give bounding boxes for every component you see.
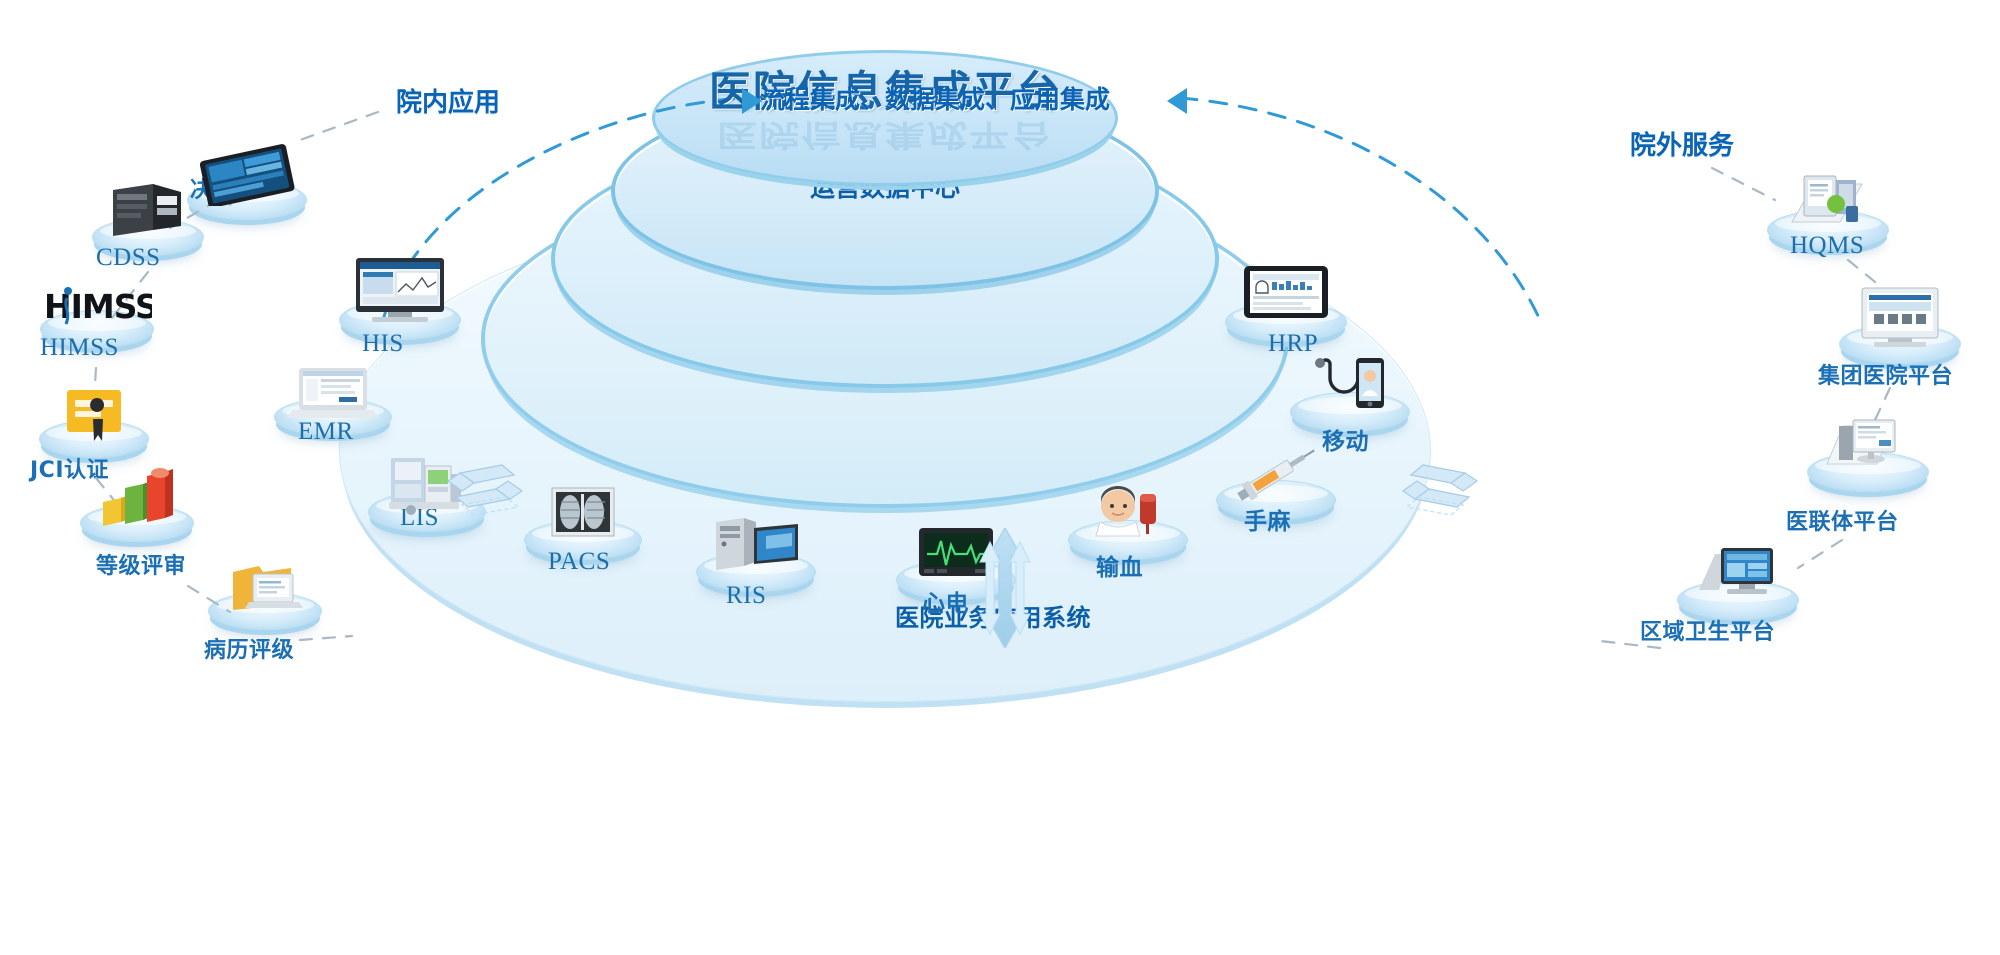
node-ecg-label: 心电: [922, 584, 969, 618]
node-hrp[interactable]: [1208, 250, 1364, 342]
tablet-form-icon: [1234, 262, 1338, 328]
svg-text:HIMSS: HIMSS: [44, 287, 152, 326]
integration-banner-label: 流程集成、数据集成、应用集成: [760, 80, 1110, 116]
node-union-platform[interactable]: [1790, 400, 1946, 492]
syringe-icon: [1228, 446, 1324, 506]
node-mobile-label: 移动: [1322, 422, 1369, 456]
crt-monitor-icon: [1852, 284, 1948, 350]
diagram-canvas: 院内应用 院外服务 流程集成、数据集成、应用集成 基础数据中心 临床数据中心 运…: [0, 0, 2000, 955]
tower-pc-icon: [706, 516, 806, 578]
node-blood-label: 输血: [1096, 548, 1143, 582]
node-grade-label: 等级评审: [96, 548, 186, 580]
node-grade[interactable]: [62, 452, 212, 542]
desktop-docs-icon: [1819, 412, 1917, 478]
himss-logo-icon: HIMSS: [42, 284, 152, 330]
node-his[interactable]: [322, 248, 478, 340]
node-hqms-label: HQMS: [1790, 232, 1864, 260]
node-ris-label: RIS: [726, 582, 766, 610]
blood-transfusion-icon: [1080, 484, 1176, 546]
node-blood[interactable]: [1050, 468, 1206, 560]
arrow-left-icon: [1167, 88, 1187, 114]
xray-film-icon: [542, 484, 624, 546]
left-exchange-arrows-icon: [440, 455, 530, 535]
node-record-label: 病历评级: [204, 632, 294, 664]
node-himss-label: HIMSS: [40, 334, 119, 362]
server-rack-icon: [105, 180, 191, 242]
tablet-dashboard-icon: [193, 144, 301, 206]
heading-outside-services: 院外服务: [1630, 125, 1734, 162]
blue-monitor-icon: [1689, 540, 1787, 606]
node-group-platform[interactable]: [1822, 272, 1978, 364]
bar-chart-3d-icon: [91, 464, 183, 528]
certificate-seal-icon: [57, 386, 131, 444]
node-anes-label: 手麻: [1244, 502, 1291, 536]
node-pacs[interactable]: [508, 468, 658, 560]
document-folder-icon: [1778, 170, 1878, 236]
desktop-monitor-icon: [348, 256, 452, 326]
mobile-stethoscope-icon: [1300, 354, 1400, 418]
node-regional-platform-label: 区域卫生平台: [1640, 614, 1775, 646]
node-record[interactable]: [190, 540, 340, 630]
node-group-platform-label: 集团医院平台: [1818, 358, 1953, 390]
bidirectional-arrow-icon: [975, 528, 1035, 648]
node-emr-label: EMR: [298, 418, 354, 446]
platform-title-reflection: 医院信息集成平台: [340, 115, 1430, 159]
node-regional-platform[interactable]: [1660, 528, 1816, 620]
right-exchange-arrows-icon: [1395, 455, 1485, 535]
folder-laptop-icon: [219, 554, 311, 616]
node-jci[interactable]: [24, 372, 164, 458]
node-ris[interactable]: [678, 500, 834, 592]
laptop-icon: [285, 364, 381, 422]
node-pacs-label: PACS: [548, 548, 610, 576]
arrow-right-icon: [742, 88, 762, 114]
